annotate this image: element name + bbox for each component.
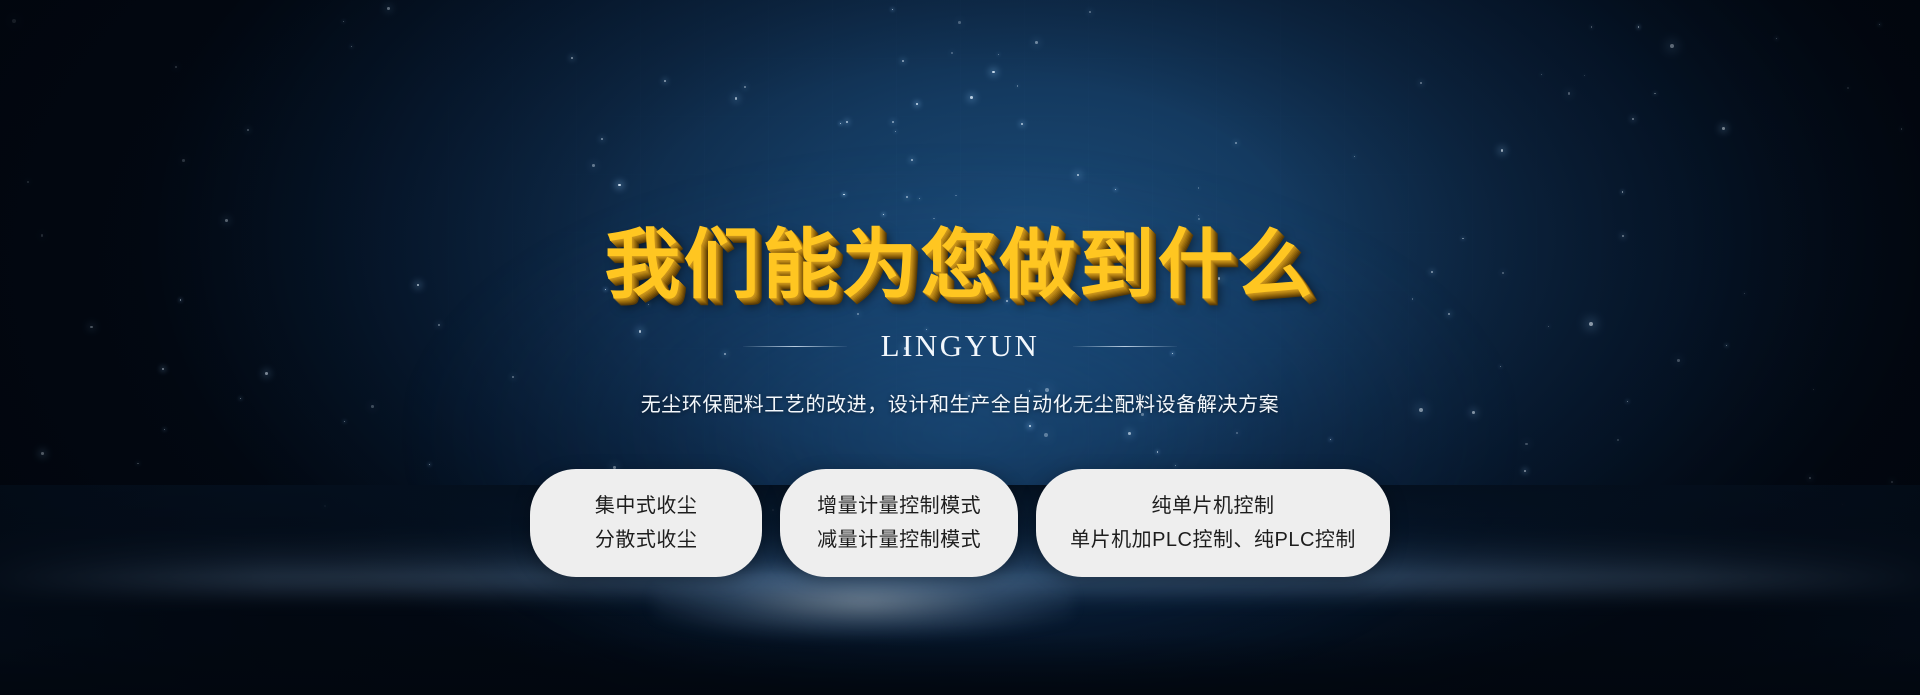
feature-card-line: 分散式收尘 xyxy=(595,529,698,552)
divider-line-right xyxy=(1073,346,1177,347)
divider-line-left xyxy=(743,346,847,347)
feature-card-line: 纯单片机控制 xyxy=(1152,495,1275,518)
feature-card-line: 增量计量控制模式 xyxy=(817,495,981,518)
feature-card[interactable]: 集中式收尘 分散式收尘 xyxy=(530,469,762,577)
banner-headline: 我们能为您做到什么 xyxy=(605,228,1316,304)
feature-card-list: 集中式收尘 分散式收尘 增量计量控制模式 减量计量控制模式 纯单片机控制 单片机… xyxy=(530,469,1390,577)
brand-divider-row: LINGYUN xyxy=(743,328,1178,364)
feature-card-line: 单片机加PLC控制、纯PLC控制 xyxy=(1070,529,1356,552)
feature-card[interactable]: 纯单片机控制 单片机加PLC控制、纯PLC控制 xyxy=(1036,469,1390,577)
feature-card-line: 集中式收尘 xyxy=(595,495,698,518)
banner-content: 我们能为您做到什么 LINGYUN 无尘环保配料工艺的改进，设计和生产全自动化无… xyxy=(0,0,1920,695)
feature-card[interactable]: 增量计量控制模式 减量计量控制模式 xyxy=(780,469,1018,577)
hero-banner: 我们能为您做到什么 LINGYUN 无尘环保配料工艺的改进，设计和生产全自动化无… xyxy=(0,0,1920,695)
feature-card-line: 减量计量控制模式 xyxy=(817,529,981,552)
banner-tagline: 无尘环保配料工艺的改进，设计和生产全自动化无尘配料设备解决方案 xyxy=(641,388,1280,417)
brand-latin-name: LINGYUN xyxy=(881,328,1040,364)
